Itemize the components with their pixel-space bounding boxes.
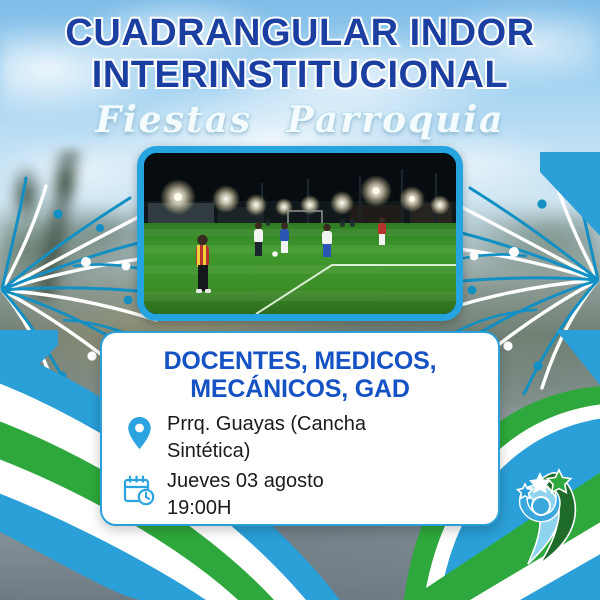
event-photo-image xyxy=(144,153,456,314)
event-photo xyxy=(137,146,463,321)
card-heading-line-1: DOCENTES, MEDICOS, xyxy=(122,347,478,375)
location-line-2: Sintética) xyxy=(167,438,366,465)
time-line: 19:00H xyxy=(167,495,324,522)
datetime-text: Jueves 03 agosto 19:00H xyxy=(167,467,324,522)
sports-figure-stars-logo xyxy=(500,454,586,566)
location-text: Prrq. Guayas (Cancha Sintética) xyxy=(167,410,366,465)
script-word-2: Parroquia xyxy=(287,99,505,141)
date-line: Jueves 03 agosto xyxy=(167,468,324,495)
event-poster: CUADRANGULAR INDOR INTERINSTITUCIONAL Fi… xyxy=(0,0,600,600)
title-line-2: INTERINSTITUCIONAL xyxy=(0,54,600,96)
calendar-clock-icon xyxy=(122,467,156,511)
script-word-1: Fiestas xyxy=(96,99,253,141)
event-info-card: DOCENTES, MEDICOS, MECÁNICOS, GAD Prrq. … xyxy=(100,331,500,526)
card-heading-line-2: MECÁNICOS, GAD xyxy=(122,375,478,403)
info-row-datetime: Jueves 03 agosto 19:00H xyxy=(122,467,478,522)
info-row-location: Prrq. Guayas (Cancha Sintética) xyxy=(122,410,478,465)
title-line-1: CUADRANGULAR INDOR xyxy=(0,12,600,54)
location-pin-icon xyxy=(122,410,156,454)
location-line-1: Prrq. Guayas (Cancha xyxy=(167,411,366,438)
